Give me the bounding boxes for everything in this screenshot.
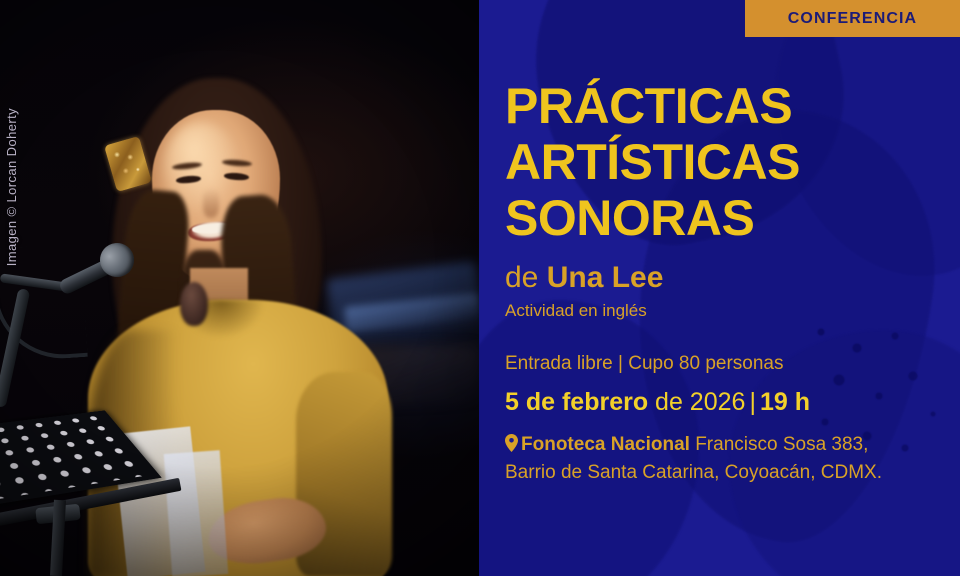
title-line-3: SONORAS bbox=[505, 190, 945, 246]
secondary-microphone bbox=[180, 282, 208, 326]
speaker-photo: Imagen © Lorcan Doherty bbox=[0, 0, 479, 576]
presenter-line: de Una Lee bbox=[505, 260, 945, 296]
event-year: de 2026 bbox=[648, 388, 745, 416]
date-time-line: 5 de febrero de 2026|19 h bbox=[505, 386, 945, 418]
info-panel: CONFERENCIA PRÁCTICAS ARTÍSTICAS SONORAS… bbox=[479, 0, 960, 576]
event-poster: Imagen © Lorcan Doherty CONFERENCIA PRÁC… bbox=[0, 0, 960, 576]
map-pin-icon bbox=[505, 434, 518, 460]
venue-info: Fonoteca Nacional Francisco Sosa 383, Ba… bbox=[505, 432, 945, 486]
event-details: PRÁCTICAS ARTÍSTICAS SONORAS de Una Lee … bbox=[505, 0, 945, 486]
event-time: 19 h bbox=[760, 388, 810, 416]
admission-info: Entrada libre | Cupo 80 personas bbox=[505, 352, 945, 376]
event-day: 5 de febrero bbox=[505, 388, 648, 416]
presenter-name: Una Lee bbox=[547, 261, 664, 294]
date-separator: | bbox=[745, 388, 760, 416]
event-title: PRÁCTICAS ARTÍSTICAS SONORAS bbox=[505, 78, 945, 246]
presenter-prefix: de bbox=[505, 261, 547, 294]
title-line-2: ARTÍSTICAS bbox=[505, 134, 945, 190]
nose bbox=[203, 188, 219, 218]
title-line-1: PRÁCTICAS bbox=[505, 78, 945, 134]
image-credit: Imagen © Lorcan Doherty bbox=[4, 108, 19, 266]
venue-locality: Barrio de Santa Catarina, Coyoacán, CDMX… bbox=[505, 462, 882, 483]
venue-name: Fonoteca Nacional bbox=[521, 434, 690, 455]
venue-street: Francisco Sosa 383, bbox=[690, 434, 868, 455]
activity-language-note: Actividad en inglés bbox=[505, 300, 945, 322]
sheet-music-page-second bbox=[164, 450, 229, 576]
